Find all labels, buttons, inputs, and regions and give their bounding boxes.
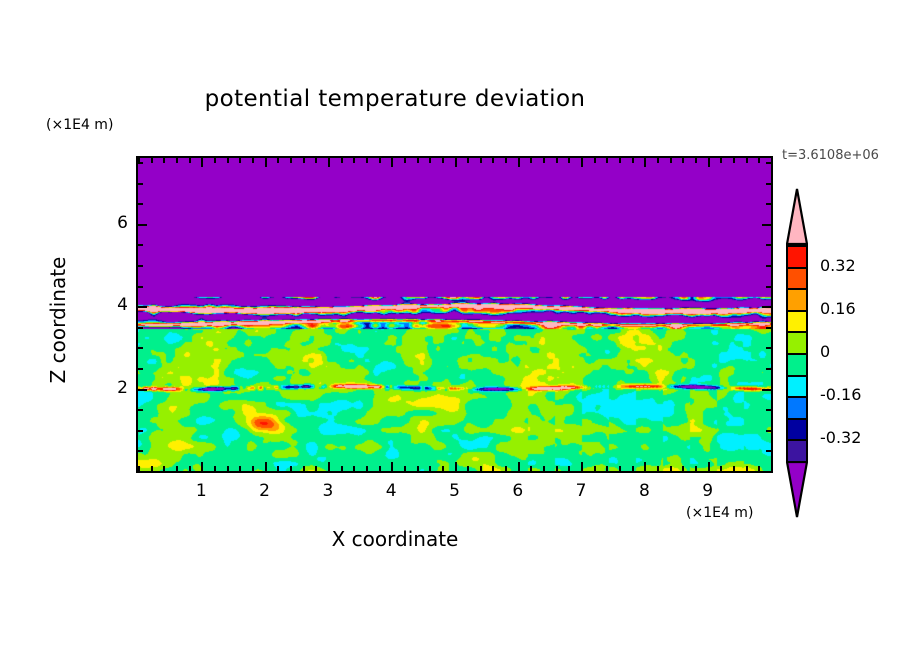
x-minor-tick-top [277,158,279,163]
y-tick-label: 4 [88,295,128,315]
x-minor-tick [429,466,431,471]
x-tick-label: 8 [624,481,664,501]
y-major-tick [138,389,147,391]
x-major-tick [328,462,330,471]
x-minor-tick [670,466,672,471]
x-major-tick-top [201,158,203,167]
y-minor-tick [138,368,143,370]
x-minor-tick [366,466,368,471]
x-minor-tick [606,466,608,471]
x-minor-tick [227,466,229,471]
x-minor-tick [353,466,355,471]
x-minor-tick-top [758,158,760,163]
x-minor-tick [290,466,292,471]
y-minor-tick [138,244,143,246]
x-minor-tick [657,466,659,471]
x-minor-tick [379,466,381,471]
x-minor-tick [746,466,748,471]
y-minor-tick [138,347,143,349]
x-minor-tick [341,466,343,471]
x-minor-tick [568,466,570,471]
colorbar-band [788,355,806,377]
y-minor-tick-right [766,471,771,473]
y-major-tick [138,224,147,226]
y-minor-tick [138,430,143,432]
x-minor-tick-top [366,158,368,163]
y-minor-tick-right [766,162,771,164]
x-minor-tick-top [746,158,748,163]
x-major-tick-top [455,158,457,167]
x-minor-tick-top [632,158,634,163]
x-minor-tick [404,466,406,471]
x-minor-tick-top [227,158,229,163]
x-minor-tick [467,466,469,471]
colorbar-band [788,269,806,291]
figure-canvas: potential temperature deviation (×1E4 m)… [0,0,904,654]
colorbar-band [788,312,806,334]
y-minor-tick [138,409,143,411]
x-major-tick [708,462,710,471]
colorbar-band [788,377,806,399]
y-minor-tick-right [766,347,771,349]
y-minor-tick [138,450,143,452]
y-minor-tick-right [766,183,771,185]
y-major-tick-right [762,389,771,391]
x-major-tick [265,462,267,471]
x-major-tick-top [265,158,267,167]
y-minor-tick-right [766,286,771,288]
x-major-tick [581,462,583,471]
y-minor-tick [138,203,143,205]
contour-plot-area [136,156,773,473]
x-minor-tick-top [252,158,254,163]
x-minor-tick-top [290,158,292,163]
x-minor-tick [442,466,444,471]
x-minor-tick [252,466,254,471]
colorbar-band [788,420,806,442]
x-minor-tick-top [353,158,355,163]
y-minor-tick-right [766,327,771,329]
y-minor-tick-right [766,409,771,411]
x-tick-label: 4 [371,481,411,501]
x-minor-tick-top [214,158,216,163]
x-minor-tick [543,466,545,471]
y-axis-title: Z coordinate [46,210,70,430]
x-minor-tick [733,466,735,471]
x-minor-tick-top [480,158,482,163]
x-minor-tick [530,466,532,471]
x-minor-tick-top [404,158,406,163]
x-minor-tick [505,466,507,471]
x-minor-tick [594,466,596,471]
x-minor-tick-top [556,158,558,163]
x-tick-label: 9 [688,481,728,501]
x-major-tick-top [391,158,393,167]
x-minor-tick-top [594,158,596,163]
x-minor-tick-top [315,158,317,163]
x-minor-tick-top [189,158,191,163]
x-minor-tick [214,466,216,471]
x-minor-tick-top [670,158,672,163]
x-minor-tick [315,466,317,471]
x-minor-tick [480,466,482,471]
y-tick-label: 2 [88,378,128,398]
x-minor-tick [239,466,241,471]
x-minor-tick [492,466,494,471]
y-major-tick [138,306,147,308]
y-minor-tick [138,265,143,267]
colorbar-band [788,290,806,312]
x-minor-tick-top [695,158,697,163]
x-major-tick [644,462,646,471]
x-minor-tick [417,466,419,471]
y-minor-tick-right [766,450,771,452]
x-minor-tick [163,466,165,471]
x-major-tick-top [708,158,710,167]
x-tick-label: 5 [435,481,475,501]
x-minor-tick [771,466,773,471]
x-major-tick-top [581,158,583,167]
y-minor-tick [138,471,143,473]
y-minor-tick-right [766,368,771,370]
y-tick-label: 6 [88,213,128,233]
x-minor-tick-top [341,158,343,163]
x-minor-tick-top [505,158,507,163]
x-minor-tick [619,466,621,471]
x-minor-tick [303,466,305,471]
colorbar-band [788,247,806,269]
scalar-field-image [138,158,771,471]
x-tick-label: 3 [308,481,348,501]
y-minor-tick-right [766,244,771,246]
x-minor-tick [695,466,697,471]
colorbar-tick-label: -0.16 [820,385,861,404]
colorbar [786,188,808,518]
colorbar-band [788,441,806,463]
y-minor-tick-right [766,203,771,205]
colorbar-over-arrow-icon [786,188,808,245]
x-minor-tick-top [163,158,165,163]
y-minor-tick-right [766,265,771,267]
colorbar-under-arrow-icon [786,461,808,518]
x-minor-tick-top [429,158,431,163]
colorbar-tick-label: -0.32 [820,428,861,447]
x-minor-tick-top [733,158,735,163]
x-minor-tick-top [492,158,494,163]
x-major-tick-top [518,158,520,167]
x-axis-unit-label: (×1E4 m) [686,505,753,521]
colorbar-tick-label: 0.16 [820,299,856,318]
colorbar-band [788,333,806,355]
y-minor-tick [138,286,143,288]
x-tick-label: 1 [181,481,221,501]
colorbar-band [788,398,806,420]
x-minor-tick-top [379,158,381,163]
x-minor-tick-top [771,158,773,163]
y-major-tick-right [762,306,771,308]
x-minor-tick-top [568,158,570,163]
colorbar-tick-label: 0.32 [820,256,856,275]
x-major-tick-top [644,158,646,167]
x-minor-tick [556,466,558,471]
x-minor-tick-top [720,158,722,163]
x-minor-tick-top [417,158,419,163]
y-major-tick-right [762,224,771,226]
x-minor-tick-top [176,158,178,163]
x-tick-label: 2 [245,481,285,501]
time-annotation: t=3.6108e+06 [782,148,879,163]
colorbar-tick-label: 0 [820,342,830,361]
x-minor-tick-top [543,158,545,163]
x-minor-tick-top [467,158,469,163]
page-title: potential temperature deviation [0,86,790,112]
x-minor-tick [176,466,178,471]
x-minor-tick [720,466,722,471]
x-major-tick-top [328,158,330,167]
y-minor-tick [138,183,143,185]
x-minor-tick-top [151,158,153,163]
y-axis-unit-label: (×1E4 m) [46,117,113,133]
x-minor-tick-top [239,158,241,163]
x-tick-label: 7 [561,481,601,501]
x-minor-tick [632,466,634,471]
x-minor-tick-top [530,158,532,163]
x-major-tick [518,462,520,471]
x-minor-tick [758,466,760,471]
x-minor-tick [151,466,153,471]
x-minor-tick-top [606,158,608,163]
x-major-tick [391,462,393,471]
x-minor-tick-top [442,158,444,163]
x-major-tick [201,462,203,471]
x-minor-tick-top [619,158,621,163]
y-minor-tick-right [766,430,771,432]
x-tick-label: 6 [498,481,538,501]
x-minor-tick-top [657,158,659,163]
x-axis-title: X coordinate [0,527,790,551]
x-minor-tick [682,466,684,471]
x-minor-tick-top [682,158,684,163]
x-minor-tick [189,466,191,471]
x-major-tick [455,462,457,471]
colorbar-bands [786,245,808,461]
x-minor-tick-top [303,158,305,163]
x-minor-tick [277,466,279,471]
y-minor-tick [138,327,143,329]
y-minor-tick [138,162,143,164]
